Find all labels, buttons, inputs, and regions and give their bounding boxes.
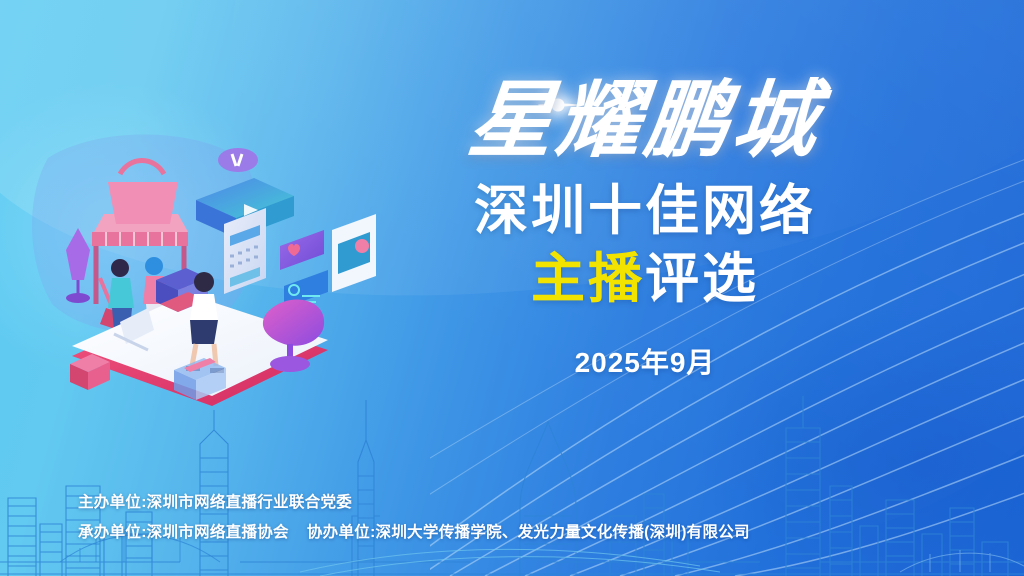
- photo-card: [332, 214, 376, 292]
- co-organizer-line: 承办单位:深圳市网络直播协会协办单位:深圳大学传播学院、发光力量文化传播(深圳)…: [78, 518, 750, 548]
- subtitle-line-2: 主播评选: [395, 248, 895, 311]
- subtitle-highlight: 主播: [531, 249, 645, 309]
- lounge-chair: [263, 300, 324, 372]
- page-title: 星耀鹏城: [390, 78, 899, 164]
- support-unit: 协办单位:深圳大学传播学院、发光力量文化传播(深圳)有限公司: [307, 524, 750, 541]
- subtitle-line-1: 深圳十佳网络: [395, 180, 895, 243]
- subtitle-rest: 评选: [645, 249, 759, 309]
- poster-canvas: 星耀鹏城 深圳十佳网络 主播评选 2025年9月 主办单位:深圳市网络直播行业联…: [0, 0, 1024, 576]
- host-unit: 承办单位:深圳市网络直播协会: [78, 524, 289, 541]
- heart-comment-bubble: [280, 230, 324, 270]
- gift-box: [70, 354, 110, 390]
- organizer-line: 主办单位:深圳市网络直播行业联合党委: [78, 488, 750, 518]
- credits-block: 主办单位:深圳市网络直播行业联合党委 承办单位:深圳市网络直播协会协办单位:深圳…: [78, 488, 750, 548]
- cloud-upload-badge: [218, 148, 258, 172]
- event-date: 2025年9月: [395, 341, 895, 381]
- headline-block: 星耀鹏城 深圳十佳网络 主播评选 2025年9月: [395, 78, 895, 381]
- isometric-livestream-illustration: [8, 118, 388, 408]
